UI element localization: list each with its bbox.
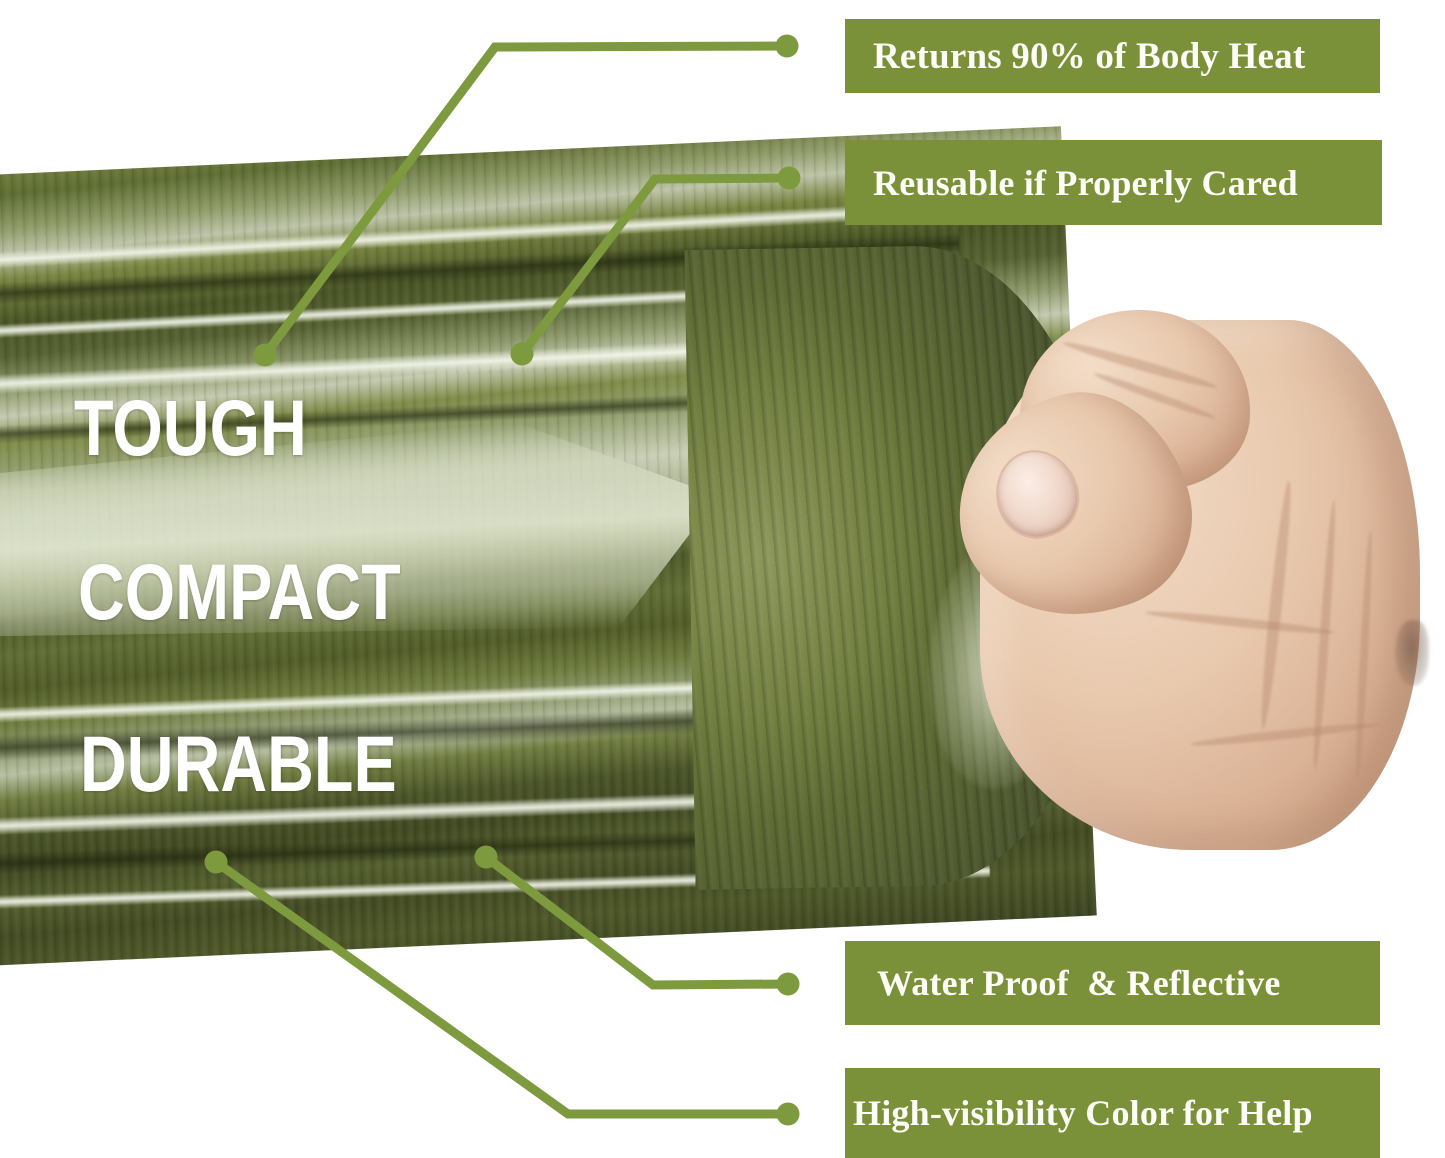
connector-dot-source-reusable xyxy=(511,343,534,366)
connector-dot-source-returns-body-heat xyxy=(254,344,277,367)
connector-line-reusable xyxy=(522,178,789,354)
infographic-canvas: Returns 90% of Body Heat Reusable if Pro… xyxy=(0,0,1445,1158)
callout-label-high-visibility-color[interactable]: High-visibility Color for Help xyxy=(845,1068,1380,1158)
callout-label-reusable[interactable]: Reusable if Properly Cared xyxy=(845,140,1382,225)
connector-dot-target-returns-body-heat xyxy=(776,35,799,58)
connector-dot-target-reusable xyxy=(778,167,801,190)
callout-label-text: Reusable if Properly Cared xyxy=(873,162,1298,204)
overlay-word-tough: TOUGH xyxy=(74,392,307,465)
callout-label-text: High-visibility Color for Help xyxy=(853,1092,1313,1134)
connector-line-water-proof-reflective xyxy=(486,857,788,985)
connector-dot-source-high-visibility-color xyxy=(205,851,228,874)
connector-line-returns-body-heat xyxy=(265,46,787,355)
overlay-word-durable: DURABLE xyxy=(80,728,397,801)
connector-dot-target-water-proof-reflective xyxy=(777,973,800,996)
connector-dot-target-high-visibility-color xyxy=(777,1103,800,1126)
callout-label-returns-body-heat[interactable]: Returns 90% of Body Heat xyxy=(845,19,1380,93)
callout-label-text: Returns 90% of Body Heat xyxy=(873,35,1305,78)
callout-label-water-proof-reflective[interactable]: Water Proof & Reflective xyxy=(845,941,1380,1025)
connector-dot-source-water-proof-reflective xyxy=(475,846,498,869)
overlay-word-compact: COMPACT xyxy=(78,556,401,629)
callout-label-text: Water Proof & Reflective xyxy=(877,962,1281,1004)
